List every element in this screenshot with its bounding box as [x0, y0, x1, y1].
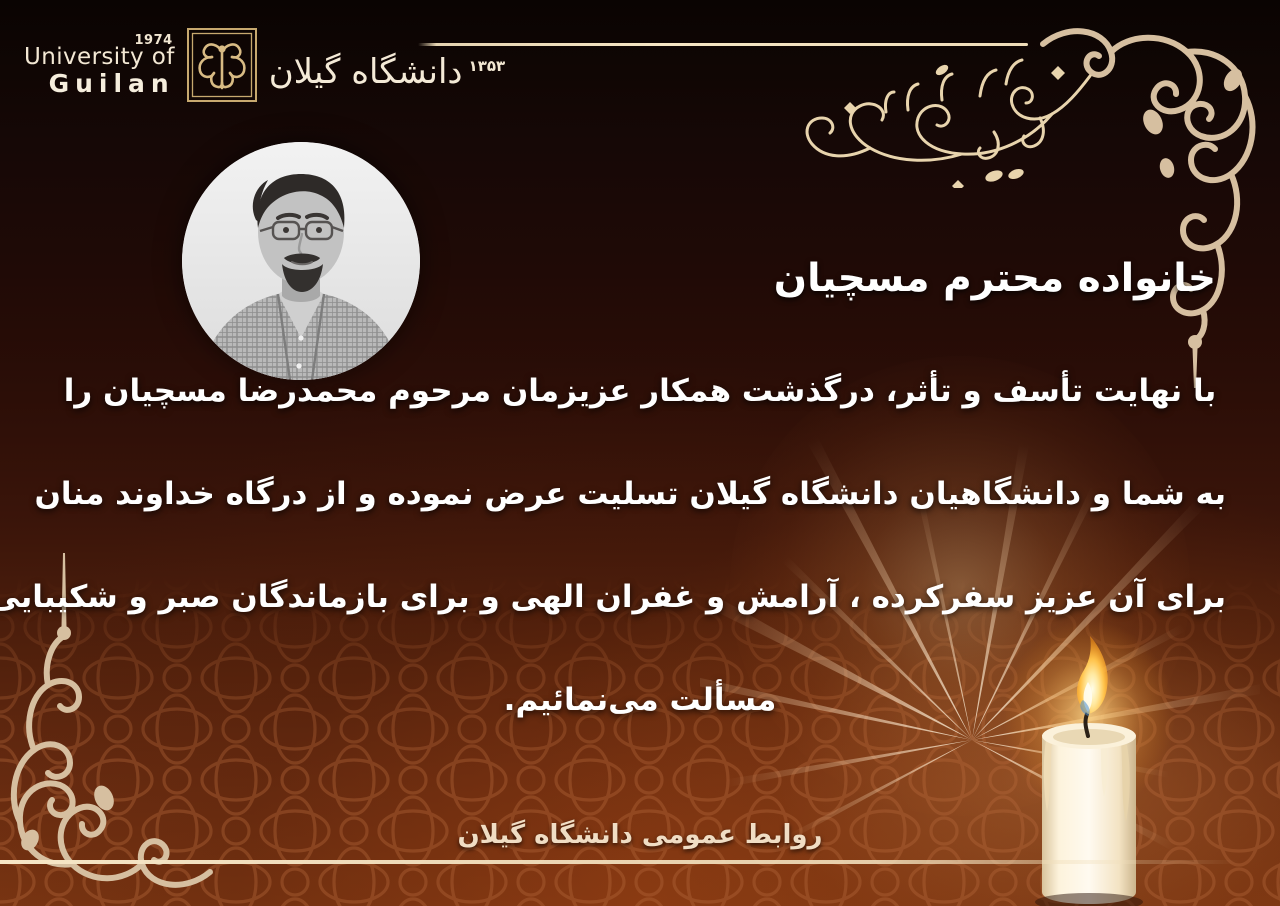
footer-rule	[0, 860, 1240, 864]
ornament-top-right-icon	[1037, 18, 1272, 388]
logo-english-line2: Guilan	[49, 71, 175, 96]
message-line-3: برای آن عزیز سفرکرده ، آرامش و غفران اله…	[54, 582, 1226, 613]
university-logo: 1974 University of Guilan ۱۳۵۳ دانشگاه گ…	[24, 26, 505, 104]
guilan-university-emblem-icon	[185, 26, 259, 104]
logo-year-gregorian: 1974	[135, 34, 173, 47]
logo-year-persian: ۱۳۵۳	[469, 41, 506, 75]
message-line-1: با نهایت تأسف و تأثر، درگذشت همکار عزیزم…	[54, 376, 1226, 407]
logo-english: 1974 University of Guilan	[24, 34, 175, 96]
page-title: خانواده محترم مسچیان	[64, 258, 1216, 301]
logo-persian-name: دانشگاه گیلان	[269, 41, 463, 89]
message-line-4: مسألت می‌نمائیم.	[54, 685, 1226, 716]
logo-persian: ۱۳۵۳ دانشگاه گیلان	[269, 41, 505, 89]
footer-signature: روابط عمومی دانشگاه گیلان	[0, 820, 1280, 850]
condolence-poster: 1974 University of Guilan ۱۳۵۳ دانشگاه گ…	[0, 0, 1280, 906]
quranic-calligraphy	[790, 48, 1110, 188]
message-line-2: به شما و دانشگاهیان دانشگاه گیلان تسلیت …	[54, 479, 1226, 510]
message-body: با نهایت تأسف و تأثر، درگذشت همکار عزیزم…	[54, 376, 1226, 716]
gold-divider-line	[418, 43, 1028, 46]
logo-english-line1: University of	[24, 46, 175, 69]
